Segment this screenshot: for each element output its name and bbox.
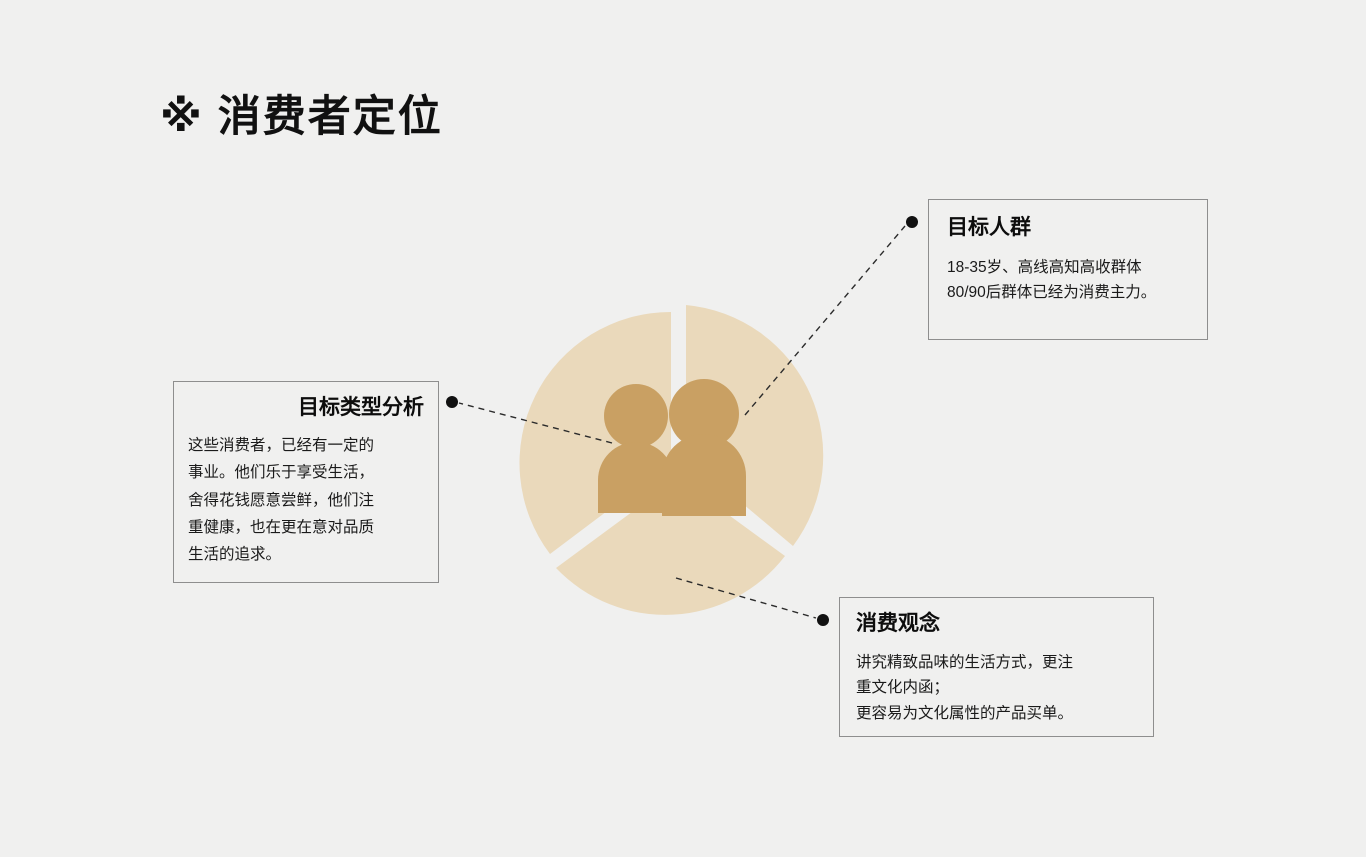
callout-box-audience[interactable]: 目标人群 18-35岁、高线高知高收群体 80/90后群体已经为消费主力。 bbox=[928, 199, 1208, 340]
callout-body-type: 这些消费者，已经有一定的 事业。他们乐于享受生活， 舍得花钱愿意尝鲜，他们注 重… bbox=[188, 432, 424, 568]
page-title: ※ 消费者定位 bbox=[160, 92, 443, 144]
callout-body-concept: 讲究精致品味的生活方式，更注 重文化内函； 更容易为文化属性的产品买单。 bbox=[856, 650, 1137, 725]
callout-title-type: 目标类型分析 bbox=[188, 394, 424, 421]
callout-box-concept[interactable]: 消费观念 讲究精致品味的生活方式，更注 重文化内函； 更容易为文化属性的产品买单… bbox=[839, 597, 1154, 737]
two-people-icon bbox=[598, 379, 746, 516]
callout-title-concept: 消费观念 bbox=[856, 610, 1137, 637]
slide-canvas: ※ 消费者定位 bbox=[0, 0, 1366, 857]
callout-body-audience: 18-35岁、高线高知高收群体 80/90后群体已经为消费主力。 bbox=[947, 255, 1189, 305]
callout-box-type[interactable]: 目标类型分析 这些消费者，已经有一定的 事业。他们乐于享受生活， 舍得花钱愿意尝… bbox=[173, 381, 439, 583]
connector-dot-audience bbox=[906, 216, 918, 228]
consumer-segments-pie bbox=[488, 288, 868, 650]
connector-dot-type bbox=[446, 396, 458, 408]
callout-title-audience: 目标人群 bbox=[947, 214, 1189, 241]
